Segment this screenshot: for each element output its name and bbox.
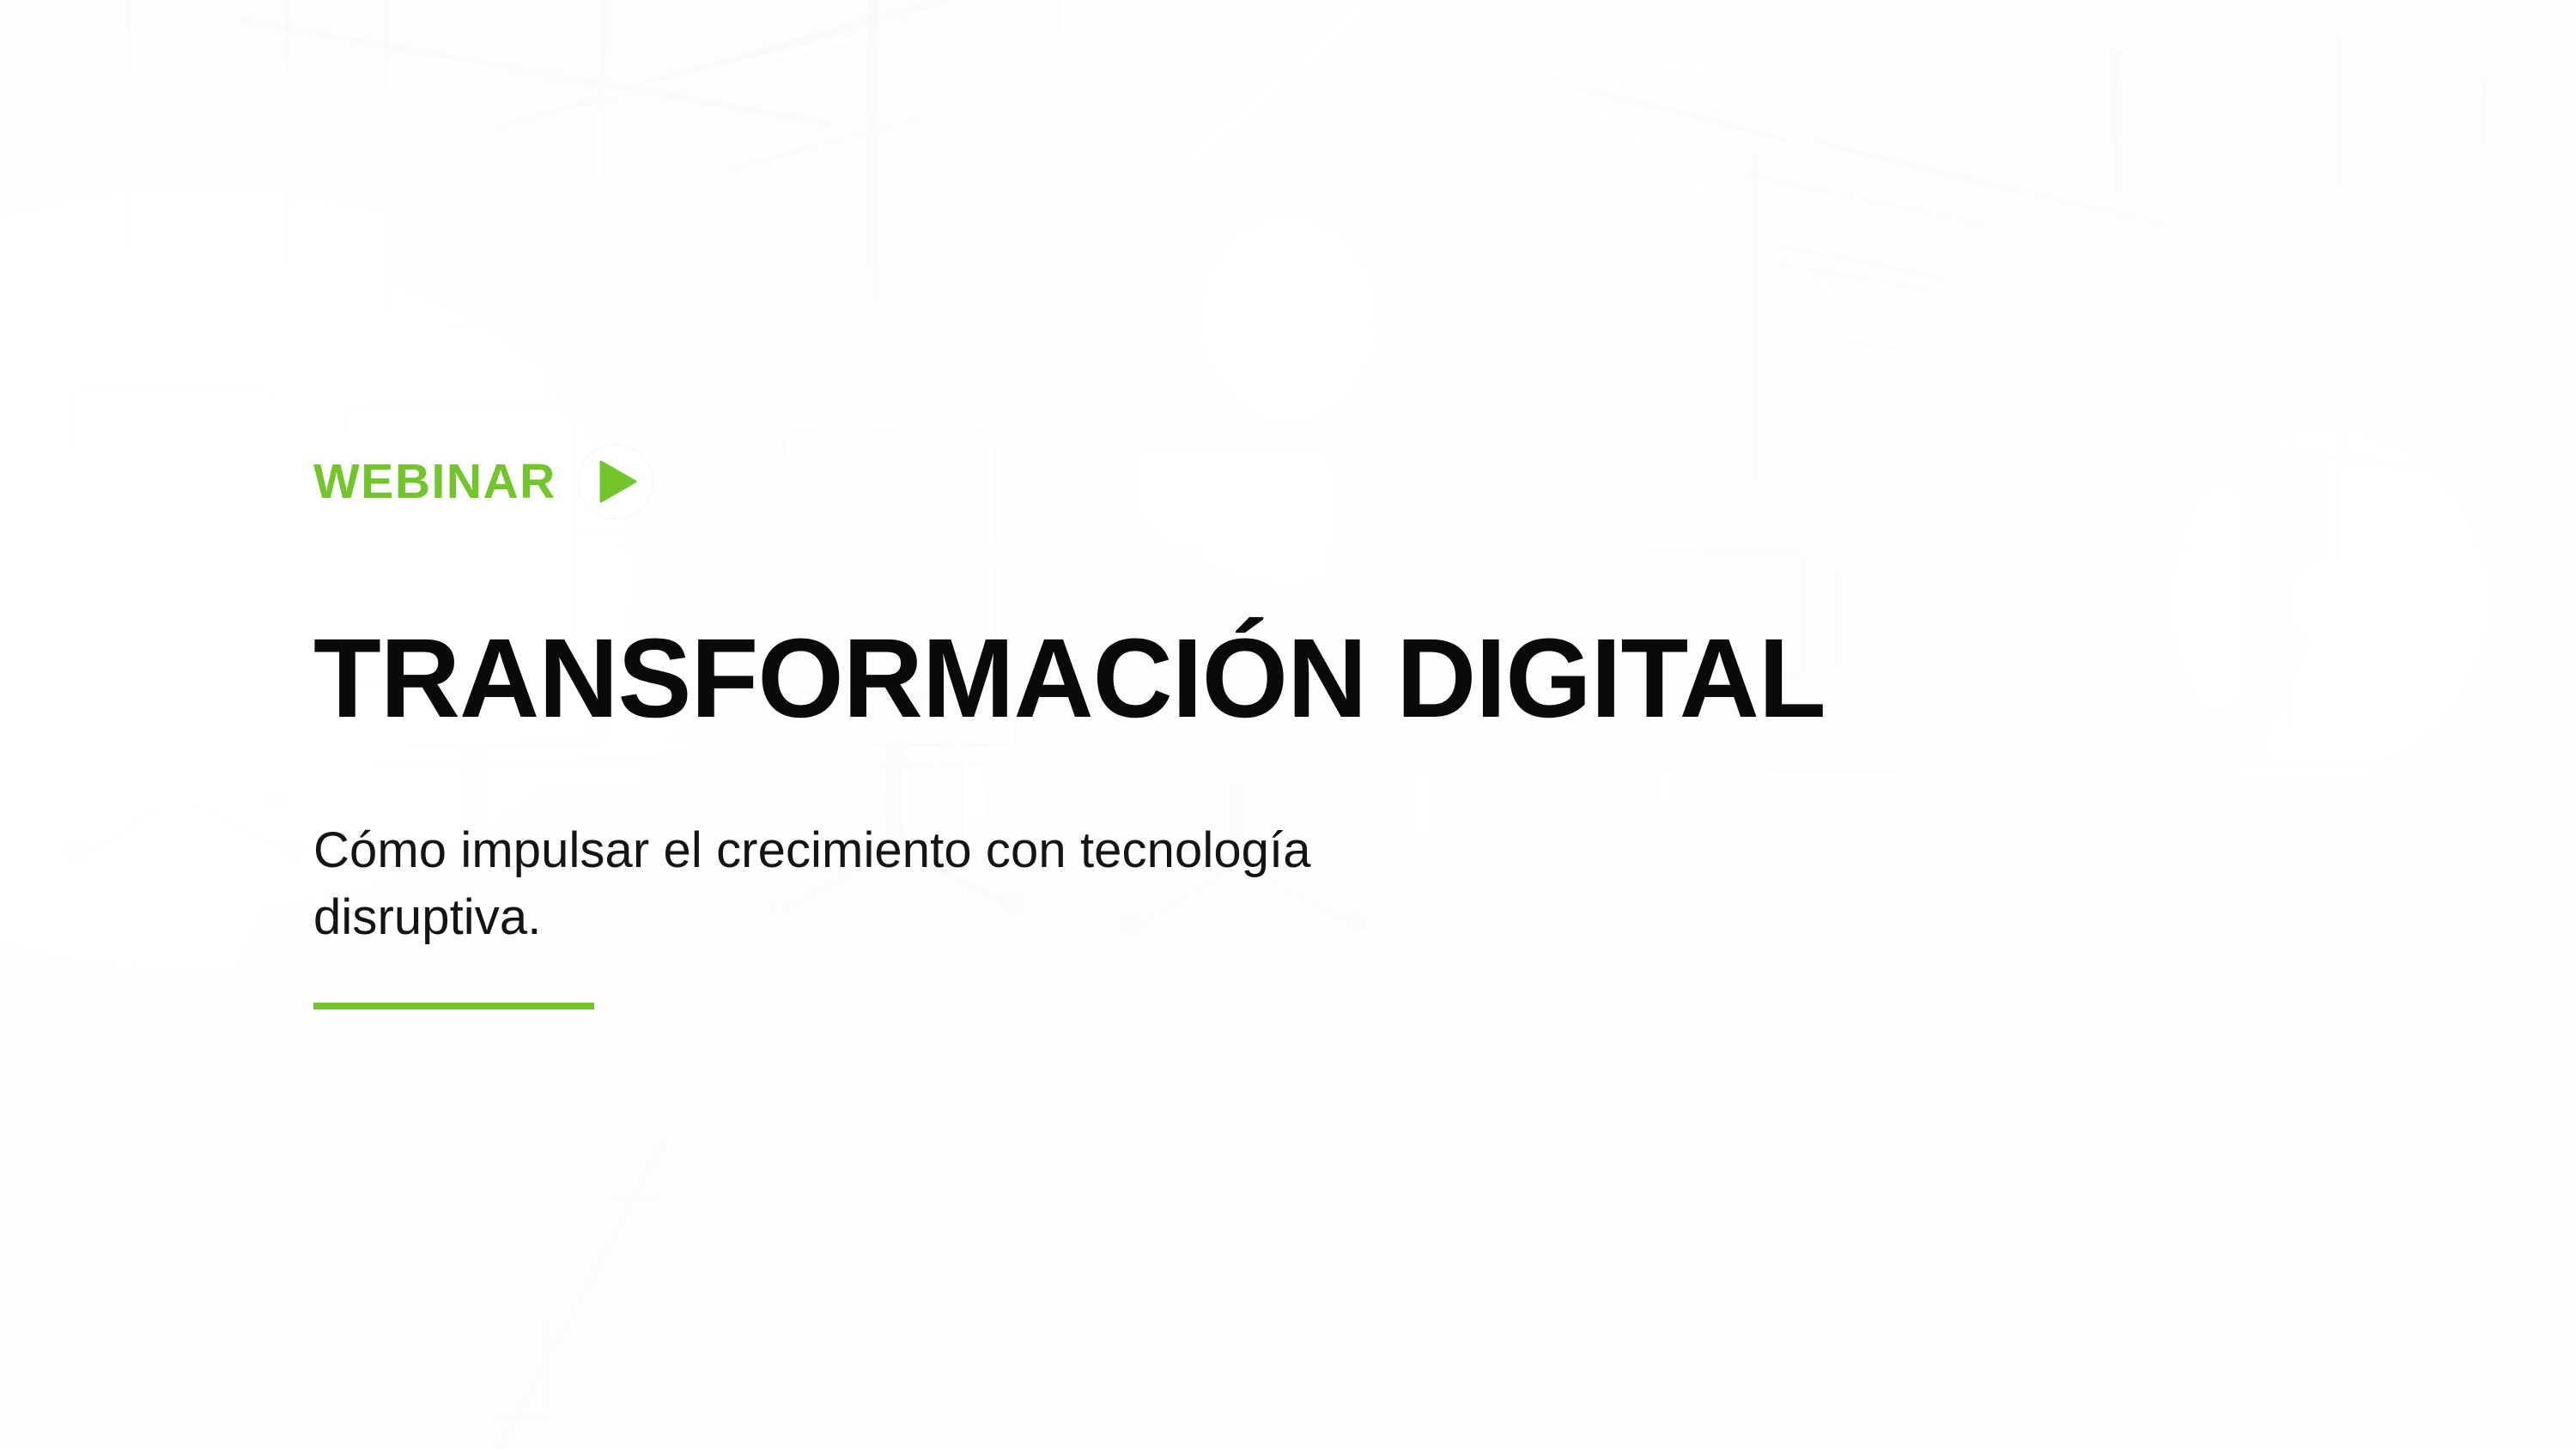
play-badge[interactable]: [579, 445, 653, 518]
eyebrow-label: WEBINAR: [313, 458, 556, 506]
green-accent-rule: [313, 1003, 594, 1009]
webinar-title-slide: WEBINAR TRANSFORMACIÓN DIGITAL Cómo impu…: [0, 0, 2576, 1449]
subtitle-line-2: disruptiva.: [313, 884, 1311, 951]
subtitle: Cómo impulsar el crecimiento con tecnolo…: [313, 817, 1311, 950]
page-title: TRANSFORMACIÓN DIGITAL: [313, 621, 1826, 734]
slide-content: WEBINAR TRANSFORMACIÓN DIGITAL Cómo impu…: [313, 0, 2288, 1449]
play-icon: [599, 460, 637, 503]
subtitle-line-1: Cómo impulsar el crecimiento con tecnolo…: [313, 817, 1311, 884]
eyebrow-row: WEBINAR: [313, 450, 653, 513]
